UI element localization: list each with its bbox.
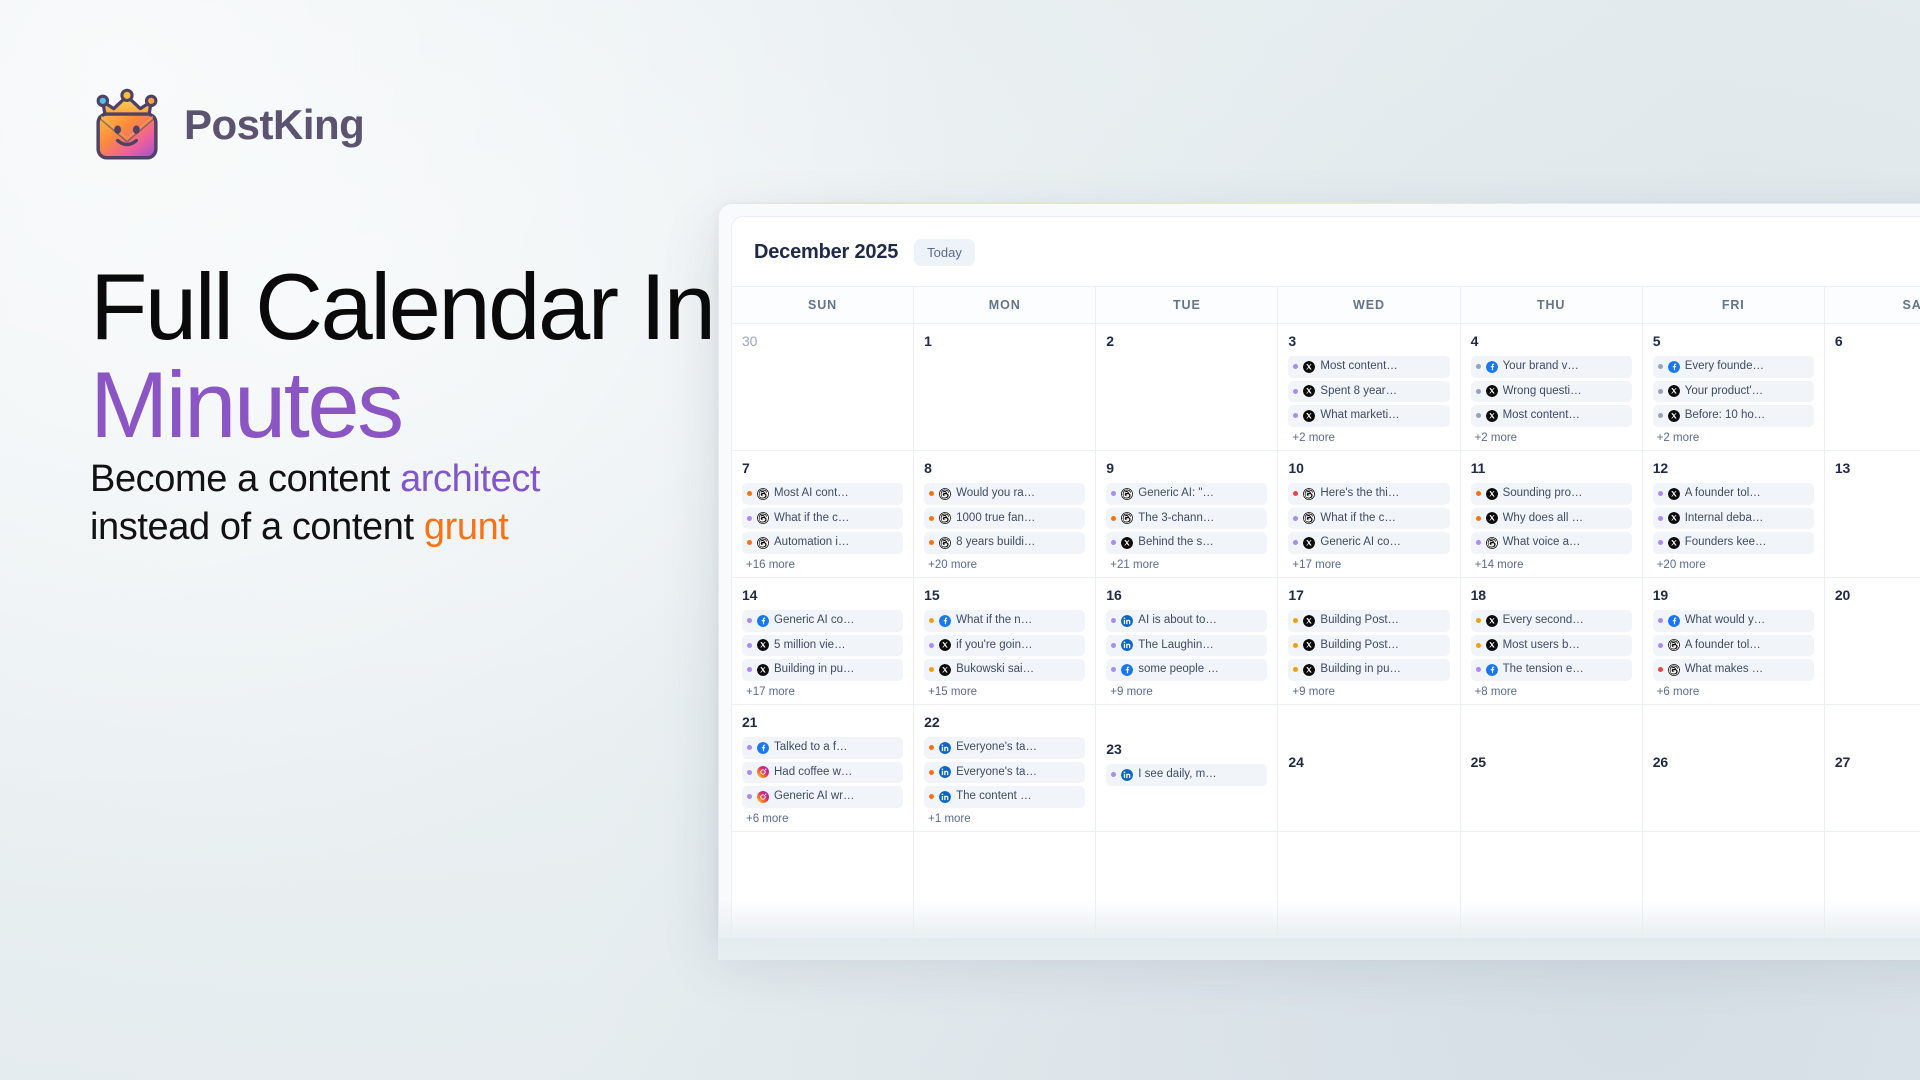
day-number: 22: [924, 714, 1085, 730]
calendar-day-cell-10[interactable]: 10Here's the thi…What if the c…Generic A…: [1278, 451, 1460, 577]
x-icon: [1668, 385, 1680, 397]
event-status-dot: [747, 643, 752, 648]
threads-icon: [1486, 537, 1498, 549]
calendar-day-cell-4[interactable]: 4Your brand v…Wrong questi…Most content……: [1461, 324, 1643, 450]
calendar-day-cell-21[interactable]: 21Talked to a f…Had coffee w…Generic AI …: [732, 705, 914, 831]
event-status-dot: [1293, 540, 1298, 545]
event-status-dot: [747, 540, 752, 545]
calendar-day-cell-11[interactable]: 11Sounding pro…Why does all …What voice …: [1461, 451, 1643, 577]
more-events-link[interactable]: +2 more: [1288, 430, 1449, 444]
event-status-dot: [747, 745, 752, 750]
facebook-icon: [757, 742, 769, 754]
linkedin-icon: [1121, 769, 1133, 781]
calendar-day-cell-27[interactable]: 27: [1825, 705, 1920, 831]
event-status-dot: [747, 794, 752, 799]
event-title: Most content…: [1503, 408, 1580, 424]
calendar-day-cell-25[interactable]: 25: [1461, 705, 1643, 831]
more-events-link[interactable]: +21 more: [1106, 557, 1267, 571]
subhead-accent-architect: architect: [400, 458, 540, 500]
calendar-event[interactable]: Building in pu…: [742, 659, 903, 681]
event-status-dot: [1111, 772, 1116, 777]
headline-line-2: Minutes: [90, 356, 714, 454]
x-icon: [1303, 361, 1315, 373]
event-status-dot: [1658, 618, 1663, 623]
facebook-icon: [1486, 664, 1498, 676]
calendar-day-cell-empty[interactable]: [732, 832, 914, 938]
calendar-event[interactable]: 1000 true fan…: [924, 508, 1085, 530]
event-status-dot: [1658, 364, 1663, 369]
event-status-dot: [1476, 540, 1481, 545]
more-events-link[interactable]: +6 more: [1653, 684, 1814, 698]
event-title: Internal deba…: [1685, 511, 1764, 527]
day-number: 23: [1106, 741, 1267, 757]
threads-icon: [1668, 664, 1680, 676]
calendar-day-cell-2[interactable]: 2: [1096, 324, 1278, 450]
brand-logo[interactable]: PostKing: [88, 86, 364, 164]
event-title: Your product'…: [1685, 384, 1763, 400]
day-number: 17: [1288, 587, 1449, 603]
day-number: 13: [1835, 460, 1920, 476]
calendar-event[interactable]: Every second…: [1471, 610, 1632, 632]
event-title: Building Post…: [1320, 638, 1399, 654]
threads-icon: [939, 512, 951, 524]
more-events-link[interactable]: +2 more: [1471, 430, 1632, 444]
event-status-dot: [929, 745, 934, 750]
x-icon: [1486, 512, 1498, 524]
event-status-dot: [929, 491, 934, 496]
calendar-day-cell-17[interactable]: 17Building Post…Building Post…Building i…: [1278, 578, 1460, 704]
event-status-dot: [1658, 643, 1663, 648]
event-status-dot: [1658, 491, 1663, 496]
event-status-dot: [929, 643, 934, 648]
calendar-event[interactable]: What if the n…: [924, 610, 1085, 632]
event-title: What if the c…: [774, 511, 849, 527]
event-status-dot: [1658, 667, 1663, 672]
event-status-dot: [1293, 413, 1298, 418]
today-button[interactable]: Today: [914, 239, 975, 266]
calendar-event[interactable]: Generic AI wr…: [742, 786, 903, 808]
calendar-day-cell-13[interactable]: 13: [1825, 451, 1920, 577]
day-number: 4: [1471, 333, 1632, 349]
event-title: A founder tol…: [1685, 486, 1761, 502]
threads-icon: [757, 488, 769, 500]
event-title: AI is about to…: [1138, 613, 1217, 629]
day-number: 9: [1106, 460, 1267, 476]
threads-icon: [1303, 512, 1315, 524]
calendar-event[interactable]: Most content…: [1471, 405, 1632, 427]
x-icon: [1486, 639, 1498, 651]
calendar-day-cell-1[interactable]: 1: [914, 324, 1096, 450]
weekday-header-sat: SAT: [1825, 287, 1920, 323]
threads-icon: [1668, 639, 1680, 651]
event-status-dot: [1293, 516, 1298, 521]
threads-icon: [757, 512, 769, 524]
calendar-day-cell-16[interactable]: 16AI is about to…The Laughin…some people…: [1096, 578, 1278, 704]
facebook-icon: [757, 615, 769, 627]
day-number: 16: [1106, 587, 1267, 603]
more-events-link[interactable]: +15 more: [924, 684, 1085, 698]
calendar-week-row: 7Most AI cont…What if the c…Automation i…: [732, 451, 1920, 578]
calendar-day-cell-empty[interactable]: [1461, 832, 1643, 938]
calendar-event[interactable]: Generic AI co…: [1288, 532, 1449, 554]
event-title: Founders kee…: [1685, 535, 1767, 551]
calendar-event[interactable]: Sounding pro…: [1471, 483, 1632, 505]
calendar-day-cell-30[interactable]: 30: [732, 324, 914, 450]
calendar-event[interactable]: Bukowski sai…: [924, 659, 1085, 681]
calendar-day-cell-empty[interactable]: [914, 832, 1096, 938]
event-title: Spent 8 year…: [1320, 384, 1397, 400]
calendar-weekday-header-row: SUNMONTUEWEDTHUFRISAT: [732, 286, 1920, 324]
day-number: 8: [924, 460, 1085, 476]
x-icon: [1486, 488, 1498, 500]
calendar-event[interactable]: Your brand v…: [1471, 356, 1632, 378]
x-icon: [757, 664, 769, 676]
day-number: 14: [742, 587, 903, 603]
calendar-week-row: [732, 832, 1920, 938]
x-icon: [939, 639, 951, 651]
calendar-day-cell-18[interactable]: 18Every second…Most users b…The tension …: [1461, 578, 1643, 704]
day-number: 3: [1288, 333, 1449, 349]
event-title: Every founde…: [1685, 359, 1764, 375]
page-subtitle: Become a content architectinstead of a c…: [90, 455, 540, 552]
x-icon: [1668, 512, 1680, 524]
x-icon: [1668, 488, 1680, 500]
day-number: 24: [1288, 754, 1449, 770]
event-title: Generic AI: "…: [1138, 486, 1214, 502]
weekday-header-wed: WED: [1278, 287, 1460, 323]
facebook-icon: [1486, 361, 1498, 373]
event-title: What would y…: [1685, 613, 1766, 629]
threads-icon: [757, 537, 769, 549]
more-events-link[interactable]: +9 more: [1288, 684, 1449, 698]
calendar-event[interactable]: Your product'…: [1653, 381, 1814, 403]
day-number: 15: [924, 587, 1085, 603]
page-title: Full Calendar InMinutes: [90, 258, 714, 454]
x-icon: [1303, 615, 1315, 627]
calendar-day-cell-8[interactable]: 8Would you ra…1000 true fan…8 years buil…: [914, 451, 1096, 577]
calendar-event[interactable]: Had coffee w…: [742, 762, 903, 784]
calendar-event[interactable]: What voice a…: [1471, 532, 1632, 554]
calendar-event[interactable]: Building Post…: [1288, 635, 1449, 657]
event-status-dot: [747, 516, 752, 521]
event-status-dot: [1658, 389, 1663, 394]
event-title: What makes …: [1685, 662, 1764, 678]
event-title: Wrong questi…: [1503, 384, 1582, 400]
day-number: 21: [742, 714, 903, 730]
event-status-dot: [1111, 667, 1116, 672]
calendar-event[interactable]: Generic AI: "…: [1106, 483, 1267, 505]
calendar-week-row: 30123Most content…Spent 8 year…What mark…: [732, 324, 1920, 451]
day-number: 10: [1288, 460, 1449, 476]
event-title: Sounding pro…: [1503, 486, 1583, 502]
linkedin-icon: [1121, 639, 1133, 651]
event-title: 8 years buildi…: [956, 535, 1035, 551]
event-title: Had coffee w…: [774, 765, 852, 781]
event-title: Everyone's ta…: [956, 765, 1037, 781]
subhead-accent-grunt: grunt: [424, 506, 509, 548]
calendar-day-cell-19[interactable]: 19What would y…A founder tol…What makes …: [1643, 578, 1825, 704]
event-title: Every second…: [1503, 613, 1584, 629]
calendar-event[interactable]: A founder tol…: [1653, 635, 1814, 657]
more-events-link[interactable]: +2 more: [1653, 430, 1814, 444]
facebook-icon: [1668, 361, 1680, 373]
event-status-dot: [747, 667, 752, 672]
calendar-event[interactable]: Generic AI co…: [742, 610, 903, 632]
x-icon: [1486, 615, 1498, 627]
threads-icon: [1303, 488, 1315, 500]
event-title: What voice a…: [1503, 535, 1581, 551]
calendar-event[interactable]: Why does all …: [1471, 508, 1632, 530]
event-title: some people …: [1138, 662, 1219, 678]
day-number: 11: [1471, 460, 1632, 476]
event-title: Bukowski sai…: [956, 662, 1034, 678]
calendar-day-cell-20[interactable]: 20: [1825, 578, 1920, 704]
x-icon: [1486, 410, 1498, 422]
event-title: 5 million vie…: [774, 638, 846, 654]
event-title: Before: 10 ho…: [1685, 408, 1766, 424]
event-title: Automation i…: [774, 535, 849, 551]
x-icon: [1303, 410, 1315, 422]
day-number: 6: [1835, 333, 1920, 349]
x-icon: [757, 639, 769, 651]
calendar-event[interactable]: Here's the thi…: [1288, 483, 1449, 505]
calendar-event[interactable]: some people …: [1106, 659, 1267, 681]
instagram-icon: [757, 791, 769, 803]
calendar-event[interactable]: Building Post…: [1288, 610, 1449, 632]
calendar-event[interactable]: Automation i…: [742, 532, 903, 554]
calendar-event[interactable]: Everyone's ta…: [924, 737, 1085, 759]
calendar-day-cell-12[interactable]: 12A founder tol…Internal deba…Founders k…: [1643, 451, 1825, 577]
calendar-card: December 2025 Today SUNMONTUEWEDTHUFRISA…: [731, 216, 1920, 938]
calendar-event[interactable]: Before: 10 ho…: [1653, 405, 1814, 427]
weekday-header-sun: SUN: [732, 287, 914, 323]
event-title: if you're goin…: [956, 638, 1032, 654]
calendar-event[interactable]: if you're goin…: [924, 635, 1085, 657]
calendar-event[interactable]: Most users b…: [1471, 635, 1632, 657]
calendar-day-cell-empty[interactable]: [1825, 832, 1920, 938]
calendar-event[interactable]: Building in pu…: [1288, 659, 1449, 681]
event-title: Your brand v…: [1503, 359, 1579, 375]
event-title: Would you ra…: [956, 486, 1035, 502]
x-icon: [939, 664, 951, 676]
calendar-day-cell-26[interactable]: 26: [1643, 705, 1825, 831]
event-title: Building in pu…: [774, 662, 855, 678]
weekday-header-tue: TUE: [1096, 287, 1278, 323]
event-title: Building in pu…: [1320, 662, 1401, 678]
calendar-panel: December 2025 Today SUNMONTUEWEDTHUFRISA…: [718, 203, 1920, 938]
event-status-dot: [929, 540, 934, 545]
x-icon: [1668, 410, 1680, 422]
weekday-header-fri: FRI: [1643, 287, 1825, 323]
calendar-event[interactable]: The Laughin…: [1106, 635, 1267, 657]
calendar-event[interactable]: What marketi…: [1288, 405, 1449, 427]
calendar-event[interactable]: Every founde…: [1653, 356, 1814, 378]
event-title: A founder tol…: [1685, 638, 1761, 654]
calendar-day-cell-14[interactable]: 14Generic AI co…5 million vie…Building i…: [732, 578, 914, 704]
calendar-header: December 2025 Today: [732, 217, 1920, 286]
calendar-event[interactable]: What makes …: [1653, 659, 1814, 681]
event-status-dot: [1476, 516, 1481, 521]
threads-icon: [1121, 488, 1133, 500]
event-title: What marketi…: [1320, 408, 1399, 424]
calendar-week-row: 21Talked to a f…Had coffee w…Generic AI …: [732, 705, 1920, 832]
x-icon: [1668, 537, 1680, 549]
headline-line-1: Full Calendar In: [90, 254, 714, 359]
event-status-dot: [1658, 540, 1663, 545]
weekday-header-thu: THU: [1461, 287, 1643, 323]
day-number: 26: [1653, 754, 1814, 770]
threads-icon: [939, 537, 951, 549]
more-events-link[interactable]: +20 more: [1653, 557, 1814, 571]
more-events-link[interactable]: +14 more: [1471, 557, 1632, 571]
threads-icon: [939, 488, 951, 500]
event-title: Building Post…: [1320, 613, 1399, 629]
more-events-link[interactable]: +20 more: [924, 557, 1085, 571]
x-icon: [1303, 385, 1315, 397]
calendar-day-cell-empty[interactable]: [1096, 832, 1278, 938]
event-title: Here's the thi…: [1320, 486, 1399, 502]
event-title: Most content…: [1320, 359, 1397, 375]
calendar-event[interactable]: What if the c…: [1288, 508, 1449, 530]
event-status-dot: [1476, 491, 1481, 496]
calendar-event[interactable]: I see daily, m…: [1106, 764, 1267, 786]
event-status-dot: [1476, 667, 1481, 672]
event-title: Most AI cont…: [774, 486, 849, 502]
day-number: 7: [742, 460, 903, 476]
calendar-day-cell-24[interactable]: 24: [1278, 705, 1460, 831]
calendar-event[interactable]: The 3-chann…: [1106, 508, 1267, 530]
event-title: Generic AI co…: [1320, 535, 1401, 551]
x-icon: [1303, 639, 1315, 651]
calendar-event[interactable]: Most content…: [1288, 356, 1449, 378]
event-status-dot: [747, 618, 752, 623]
event-title: Everyone's ta…: [956, 740, 1037, 756]
linkedin-icon: [939, 791, 951, 803]
threads-icon: [1121, 512, 1133, 524]
day-number: 18: [1471, 587, 1632, 603]
calendar-event[interactable]: Behind the s…: [1106, 532, 1267, 554]
event-status-dot: [1476, 364, 1481, 369]
calendar-week-row: 14Generic AI co…5 million vie…Building i…: [732, 578, 1920, 705]
more-events-link[interactable]: +17 more: [742, 684, 903, 698]
day-number: 12: [1653, 460, 1814, 476]
calendar-day-cell-empty[interactable]: [1643, 832, 1825, 938]
weekday-header-mon: MON: [914, 287, 1096, 323]
x-icon: [1303, 664, 1315, 676]
facebook-icon: [939, 615, 951, 627]
event-status-dot: [1476, 618, 1481, 623]
calendar-day-cell-7[interactable]: 7Most AI cont…What if the c…Automation i…: [732, 451, 914, 577]
brand-name: PostKing: [184, 101, 364, 149]
event-status-dot: [929, 770, 934, 775]
event-status-dot: [1293, 643, 1298, 648]
calendar-event[interactable]: Wrong questi…: [1471, 381, 1632, 403]
event-title: Generic AI wr…: [774, 789, 855, 805]
calendar-day-cell-9[interactable]: 9Generic AI: "…The 3-chann…Behind the s……: [1096, 451, 1278, 577]
calendar-event[interactable]: Spent 8 year…: [1288, 381, 1449, 403]
event-title: The 3-chann…: [1138, 511, 1214, 527]
event-status-dot: [747, 491, 752, 496]
event-title: The content …: [956, 789, 1031, 805]
calendar-day-cell-22[interactable]: 22Everyone's ta…Everyone's ta…The conten…: [914, 705, 1096, 831]
more-events-link[interactable]: +9 more: [1106, 684, 1267, 698]
calendar-event[interactable]: AI is about to…: [1106, 610, 1267, 632]
event-title: 1000 true fan…: [956, 511, 1035, 527]
x-icon: [1121, 537, 1133, 549]
more-events-link[interactable]: +1 more: [924, 811, 1085, 825]
calendar-event[interactable]: 5 million vie…: [742, 635, 903, 657]
event-status-dot: [1111, 618, 1116, 623]
calendar-month-title: December 2025: [754, 241, 898, 264]
calendar-event[interactable]: Internal deba…: [1653, 508, 1814, 530]
calendar-event[interactable]: Would you ra…: [924, 483, 1085, 505]
calendar-event[interactable]: Most AI cont…: [742, 483, 903, 505]
event-title: Talked to a f…: [774, 740, 848, 756]
day-number: 30: [742, 333, 903, 349]
day-number: 20: [1835, 587, 1920, 603]
event-title: Most users b…: [1503, 638, 1580, 654]
event-status-dot: [929, 794, 934, 799]
calendar-weeks: 30123Most content…Spent 8 year…What mark…: [732, 324, 1920, 938]
calendar-day-cell-empty[interactable]: [1278, 832, 1460, 938]
linkedin-icon: [939, 742, 951, 754]
event-status-dot: [1293, 389, 1298, 394]
crown-envelope-logo-icon: [88, 86, 166, 164]
event-title: Generic AI co…: [774, 613, 855, 629]
event-status-dot: [1293, 491, 1298, 496]
instagram-icon: [757, 766, 769, 778]
event-status-dot: [1476, 389, 1481, 394]
calendar-event[interactable]: 8 years buildi…: [924, 532, 1085, 554]
calendar-day-cell-23[interactable]: 23I see daily, m…: [1096, 705, 1278, 831]
calendar-event[interactable]: A founder tol…: [1653, 483, 1814, 505]
event-title: What if the c…: [1320, 511, 1395, 527]
event-status-dot: [929, 667, 934, 672]
calendar-event[interactable]: Founders kee…: [1653, 532, 1814, 554]
calendar-day-cell-5[interactable]: 5Every founde…Your product'…Before: 10 h…: [1643, 324, 1825, 450]
calendar-event[interactable]: Everyone's ta…: [924, 762, 1085, 784]
calendar-event[interactable]: What if the c…: [742, 508, 903, 530]
calendar-day-cell-3[interactable]: 3Most content…Spent 8 year…What marketi……: [1278, 324, 1460, 450]
event-status-dot: [929, 618, 934, 623]
event-title: Behind the s…: [1138, 535, 1213, 551]
subhead-line1-prefix: Become a content: [90, 458, 400, 500]
calendar-event[interactable]: The content …: [924, 786, 1085, 808]
more-events-link[interactable]: +17 more: [1288, 557, 1449, 571]
calendar-day-cell-6[interactable]: 6: [1825, 324, 1920, 450]
event-status-dot: [1111, 491, 1116, 496]
linkedin-icon: [939, 766, 951, 778]
event-status-dot: [929, 516, 934, 521]
event-status-dot: [1111, 643, 1116, 648]
calendar-day-cell-15[interactable]: 15What if the n…if you're goin…Bukowski …: [914, 578, 1096, 704]
calendar-event[interactable]: The tension e…: [1471, 659, 1632, 681]
calendar-event[interactable]: What would y…: [1653, 610, 1814, 632]
more-events-link[interactable]: +8 more: [1471, 684, 1632, 698]
calendar-event[interactable]: Talked to a f…: [742, 737, 903, 759]
event-status-dot: [1476, 413, 1481, 418]
subhead-line2-prefix: instead of a content: [90, 506, 424, 548]
more-events-link[interactable]: +6 more: [742, 811, 903, 825]
event-status-dot: [1658, 516, 1663, 521]
day-number: 19: [1653, 587, 1814, 603]
day-number: 25: [1471, 754, 1632, 770]
facebook-icon: [1121, 664, 1133, 676]
day-number: 2: [1106, 333, 1267, 349]
more-events-link[interactable]: +16 more: [742, 557, 903, 571]
facebook-icon: [1668, 615, 1680, 627]
event-status-dot: [1293, 364, 1298, 369]
